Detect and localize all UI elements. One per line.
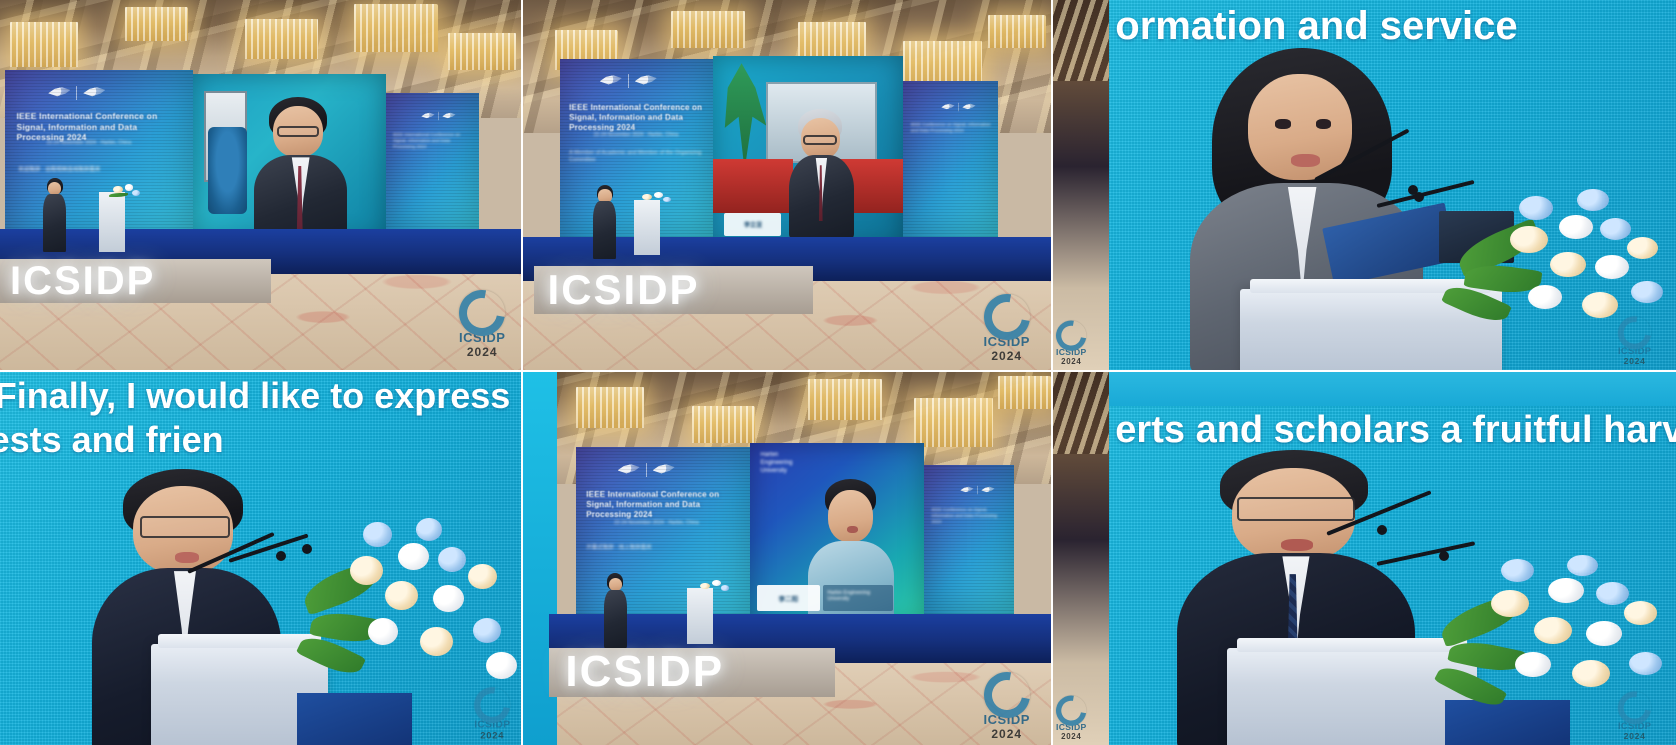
bird-logo-icon	[442, 112, 455, 120]
video-feed-remote-speaker: 李立浧	[713, 56, 903, 248]
slide-caption-line-2: ests and frien	[0, 420, 224, 460]
rose	[1596, 582, 1629, 605]
rose	[1501, 559, 1534, 582]
led-conference-title: IEEE International Conference on Signal,…	[586, 490, 743, 520]
conference-logo	[618, 463, 675, 477]
mouth	[847, 526, 858, 533]
watermark-logo-right: ICSIDP 2024	[1618, 692, 1651, 742]
mouth	[175, 552, 199, 563]
panel-bottom-right[interactable]: erts and scholars a fruitful harvest	[1053, 372, 1676, 745]
rose	[1510, 226, 1548, 254]
eye	[1275, 119, 1291, 129]
rose	[1595, 255, 1629, 279]
stage-front-sign: ICSIDP	[0, 259, 271, 303]
bird-logo-icon	[618, 463, 640, 476]
icsidp-stage-sign: ICSIDP	[565, 647, 724, 697]
watermark-year: 2024	[1061, 732, 1081, 741]
led-wall-side: IEEE Conference on Signal, Information a…	[924, 465, 1014, 614]
suit	[43, 194, 66, 252]
rose	[1572, 660, 1610, 687]
rose	[486, 652, 517, 679]
led-conference-title: IEEE International Conference on Signal,…	[16, 111, 185, 143]
chandelier	[448, 33, 516, 70]
led-wall-side: IEEE Conference on Signal, Information a…	[903, 81, 998, 236]
bird-logo-icon	[941, 103, 954, 111]
led-conference-subtitle: 22-24 November 2024 · Harbin, China	[594, 132, 683, 139]
glasses	[140, 516, 229, 538]
foliage	[109, 193, 127, 198]
rose	[473, 618, 501, 643]
rose	[125, 184, 134, 190]
watermark-logo-left: ICSIDP 2024	[1056, 321, 1087, 367]
rose	[1548, 578, 1584, 603]
red-cabinet	[713, 159, 793, 213]
watermark-year: 2024	[467, 345, 498, 359]
conference-logo	[48, 86, 105, 100]
rose	[721, 585, 729, 590]
rose	[1567, 555, 1598, 576]
panel-top-center[interactable]: IEEE International Conference on Signal,…	[523, 0, 1053, 372]
bird-logo-icon	[83, 86, 105, 99]
glasses	[277, 126, 320, 137]
speaker-affiliation-plate: Harbin Engineering University	[823, 585, 893, 611]
watermark-logo: ICSIDP 2024	[984, 294, 1030, 363]
logo-divider	[438, 112, 439, 120]
host-on-stage	[592, 185, 618, 259]
mouth	[1281, 539, 1313, 551]
rose	[1624, 601, 1657, 624]
slide-logo: Harbin Engineering University	[760, 452, 802, 485]
rose	[700, 583, 710, 589]
chandelier	[576, 387, 645, 428]
light-shirt	[808, 541, 894, 626]
suit	[604, 590, 627, 648]
rose	[398, 543, 429, 570]
logo-divider	[628, 74, 629, 88]
watermark-logo: ICSIDP 2024	[984, 672, 1030, 741]
flower-arrangement	[109, 181, 145, 207]
watermark-year: 2024	[1061, 357, 1081, 366]
rose	[1491, 590, 1529, 617]
panel-top-left[interactable]: IEEE International Conference on Signal,…	[0, 0, 523, 372]
chandelier	[125, 7, 188, 40]
bird-logo-icon	[653, 463, 675, 476]
chandelier	[10, 22, 78, 66]
conference-logo	[961, 486, 995, 494]
watermark-logo-left: ICSIDP 2024	[1056, 696, 1087, 742]
slide-caption-line-1: Finally, I would like to express my	[0, 376, 521, 416]
bird-logo-icon	[635, 74, 657, 87]
ballroom-scene: IEEE International Conference on Signal,…	[523, 0, 1051, 370]
rose	[1600, 218, 1631, 240]
logo-divider	[76, 86, 77, 100]
video-feed-remote-speaker	[193, 74, 386, 241]
rose	[1577, 189, 1608, 211]
ballroom-scene: IEEE International Conference on Signal,…	[523, 372, 1051, 745]
chandelier	[808, 379, 882, 420]
head	[828, 490, 872, 543]
host-on-stage	[602, 573, 628, 648]
speaker-affiliation-text: Harbin Engineering University	[827, 590, 893, 602]
rose	[654, 192, 663, 198]
rose	[712, 580, 721, 586]
rose	[1631, 281, 1662, 303]
rose	[433, 585, 464, 612]
watermark-year: 2024	[1623, 731, 1645, 741]
slide-caption: erts and scholars a fruitful harvest	[1115, 409, 1676, 452]
rose	[132, 190, 140, 196]
watermark-year: 2024	[991, 727, 1022, 741]
photo-collage: IEEE International Conference on Signal,…	[0, 0, 1676, 745]
led-note: A Member of Academic and Member of the O…	[569, 150, 704, 164]
icsidp-stage-sign: ICSIDP	[10, 259, 155, 304]
rose	[1627, 237, 1658, 259]
logo-divider	[646, 463, 647, 477]
led-note: 开幕式致辞 · 线上致辞嘉宾	[586, 545, 739, 552]
rose	[1534, 617, 1572, 644]
room-edge-strip	[1053, 0, 1109, 370]
led-conference-subtitle: 22-24 November 2024 · Harbin, China	[46, 140, 159, 147]
rose	[1582, 292, 1618, 318]
bird-logo-icon	[961, 486, 974, 494]
rose	[438, 547, 466, 572]
rose	[416, 518, 442, 541]
suit	[593, 201, 616, 259]
chandelier	[671, 11, 745, 48]
led-side-text: IEEE International Conference on Signal,…	[393, 132, 472, 150]
watermark-logo-right: ICSIDP 2024	[1618, 317, 1651, 367]
rose	[642, 194, 652, 200]
rose	[1586, 621, 1622, 646]
bird-logo-icon	[421, 112, 434, 120]
watermark-logo: ICSIDP 2024	[474, 687, 510, 741]
bird-logo-icon	[982, 486, 995, 494]
rose	[368, 618, 399, 645]
watermark-year: 2024	[991, 349, 1022, 363]
flower-arrangement	[697, 577, 734, 599]
led-side-text: IEEE Conference on Signal, Information a…	[911, 122, 991, 134]
chandelier	[914, 398, 993, 446]
rose	[385, 581, 418, 610]
speaker-nameplate-text: 李二阳	[779, 593, 799, 603]
mouth	[1291, 154, 1320, 167]
panel-top-right[interactable]: ormation and service	[1053, 0, 1676, 372]
glasses	[1237, 497, 1356, 521]
rose	[468, 564, 496, 589]
stage-front-sign: ICSIDP	[549, 648, 834, 696]
rose	[1519, 196, 1553, 220]
watermark-logo: ICSIDP 2024	[459, 290, 505, 359]
chandelier	[692, 406, 755, 443]
rose	[1528, 285, 1562, 309]
closeup-scene: erts and scholars a fruitful harvest	[1053, 372, 1676, 745]
slide-top-band	[1109, 372, 1676, 406]
speaker-nameplate-text: 李立浧	[744, 220, 762, 229]
rose	[363, 522, 391, 547]
closeup-scene: ormation and service	[1053, 0, 1676, 370]
rose	[1515, 652, 1551, 677]
bird-logo-icon	[600, 74, 622, 87]
logo-divider	[978, 486, 979, 494]
speaker-nameplate: 李立浧	[724, 213, 781, 236]
chandelier	[988, 15, 1046, 48]
watermark-year: 2024	[481, 730, 505, 741]
bird-logo-icon	[962, 103, 975, 111]
rose	[420, 627, 453, 656]
led-wall-side: IEEE International Conference on Signal,…	[386, 93, 480, 234]
rose	[1629, 652, 1662, 675]
stage-front-sign: ICSIDP	[534, 266, 814, 314]
rose	[663, 197, 671, 202]
chandelier	[998, 376, 1051, 410]
flag-emblem	[208, 127, 247, 214]
eye	[1316, 119, 1332, 129]
microphone-head	[1377, 525, 1387, 535]
logo-divider	[958, 103, 959, 111]
chandelier	[354, 4, 437, 52]
led-conference-title: IEEE International Conference on Signal,…	[569, 103, 707, 133]
video-feed-remote-speaker: Harbin Engineering University 李二阳 Harbin…	[750, 443, 924, 626]
remote-speaker	[789, 109, 854, 236]
rose	[1559, 215, 1593, 239]
glasses	[803, 135, 837, 145]
conference-logo	[421, 112, 455, 120]
led-note: 欢迎致辞 · 远程视频连线致辞嘉宾	[18, 167, 172, 174]
rose	[1550, 252, 1586, 278]
icsidp-stage-sign: ICSIDP	[548, 266, 700, 314]
flower-arrangement	[639, 189, 676, 211]
remote-speaker	[254, 97, 347, 240]
ballroom-scene: IEEE International Conference on Signal,…	[0, 0, 521, 370]
chandelier	[245, 19, 318, 60]
conference-logo	[600, 74, 657, 88]
host-on-stage	[42, 178, 68, 252]
speaker-nameplate: 李二阳	[757, 585, 820, 611]
panel-bottom-left[interactable]: Finally, I would like to express my ests…	[0, 372, 523, 745]
bird-logo-icon	[48, 86, 70, 99]
panel-bottom-center[interactable]: IEEE International Conference on Signal,…	[523, 372, 1053, 745]
potted-plant	[717, 63, 766, 175]
led-conference-subtitle: 22-24 November 2024 · Harbin, China	[614, 520, 715, 527]
closeup-scene: Finally, I would like to express my ests…	[0, 372, 521, 745]
watermark-year: 2024	[1623, 356, 1645, 366]
conference-logo	[941, 103, 975, 111]
room-edge-strip	[1053, 372, 1109, 745]
led-side-text: IEEE Conference on Signal, Information a…	[931, 507, 1006, 525]
rose	[350, 556, 383, 585]
slide-caption: ormation and service	[1115, 4, 1517, 49]
